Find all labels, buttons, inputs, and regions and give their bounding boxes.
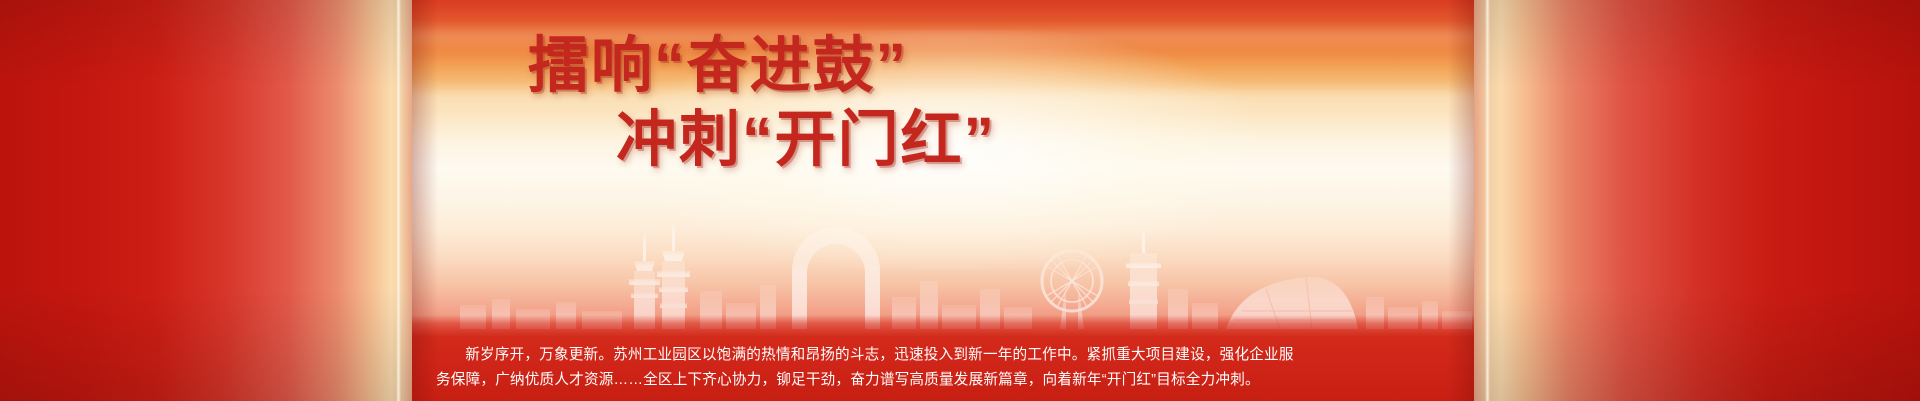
new-year-banner: 擂响“奋进鼓” 冲刺“开门红” 新岁序开，万象更新。苏州工业园区以饱满的热情和昂… xyxy=(0,0,1920,401)
right-panel-seam xyxy=(1485,0,1490,401)
right-red-panel xyxy=(1474,0,1920,401)
paragraph-line-2: 务保障，广纳优质人才资源……全区上下齐心协力，铆足干劲，奋力谱写高质量发展新篇章… xyxy=(436,368,1444,393)
left-panel-shadow xyxy=(412,0,438,401)
left-panel-seam xyxy=(396,0,401,401)
right-panel-shadow xyxy=(1448,0,1474,401)
banner-paragraph: 新岁序开，万象更新。苏州工业园区以饱满的热情和昂扬的斗志，迅速投入到新一年的工作… xyxy=(400,343,1480,393)
left-red-panel xyxy=(0,0,412,401)
paragraph-line-1: 新岁序开，万象更新。苏州工业园区以饱满的热情和昂扬的斗志，迅速投入到新一年的工作… xyxy=(436,343,1444,368)
